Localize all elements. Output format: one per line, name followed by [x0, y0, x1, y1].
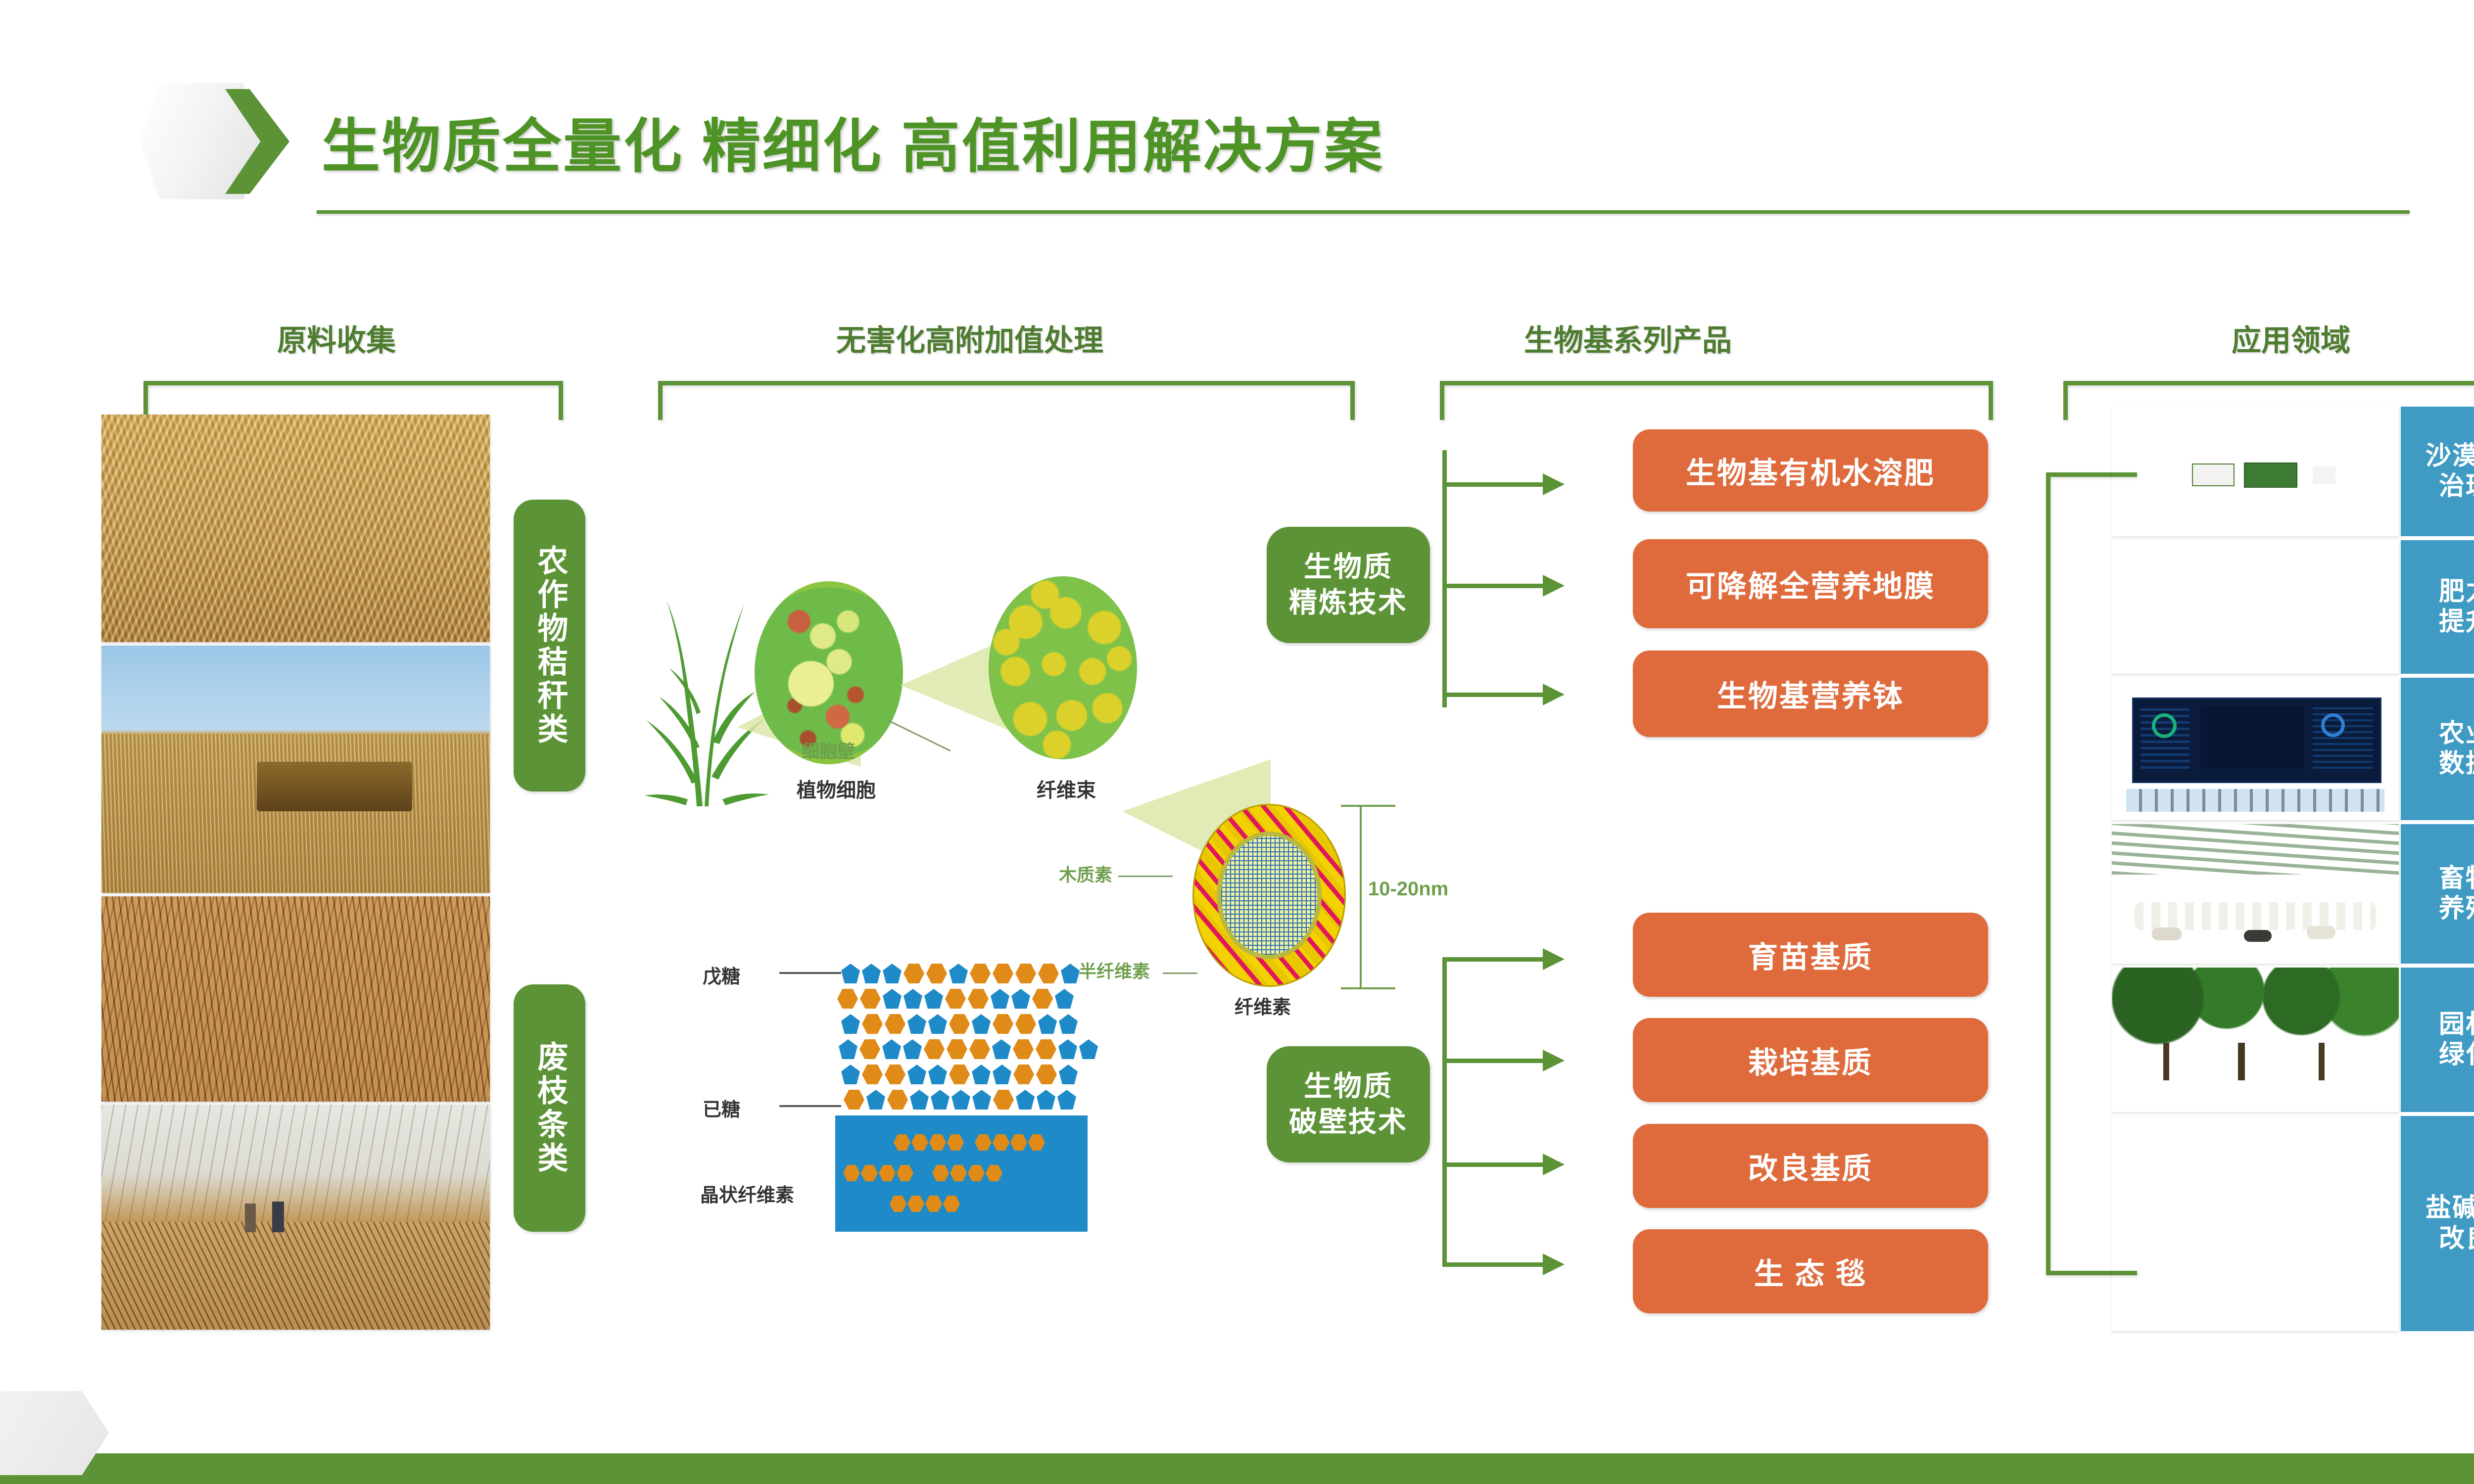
connector-arm-4 [1442, 957, 1546, 962]
dimension-tick-bottom [1341, 987, 1395, 989]
product-box-cultivation-substrate[interactable]: 栽培基质 [1633, 1018, 1988, 1102]
app-label-landscape-greening[interactable]: 园林 绿化 [2401, 968, 2474, 1112]
connector-arm-1 [1442, 482, 1546, 487]
bracket-products [1440, 381, 1993, 420]
label-hexose: 已糖 [703, 1094, 740, 1121]
product-box-degradable-mulch-film[interactable]: 可降解全营养地膜 [1633, 539, 1988, 628]
product-box-bio-nutrient-pot[interactable]: 生物基营养钵 [1633, 650, 1988, 737]
app-label-line1: 盐碱地 [2426, 1193, 2474, 1223]
app-label-livestock-breeding[interactable]: 畜牧 养殖 [2401, 824, 2474, 964]
app-label-line2: 改良 [2439, 1224, 2474, 1254]
connector-arm-2 [1442, 584, 1546, 588]
page-title: 生物质全量化 精细化 高值利用解决方案 [322, 99, 1384, 184]
tech-box-wall-breaking-line2: 破壁技术 [1289, 1105, 1408, 1140]
connector-arm-7 [1442, 1262, 1546, 1267]
app-label-line2: 治理 [2439, 471, 2474, 502]
app-label-desert-control[interactable]: 沙漠化 治理 [2401, 407, 2474, 536]
app-label-line2: 数据 [2439, 749, 2474, 779]
vertical-tab-waste-branch: 废枝条类 [514, 984, 585, 1232]
app-label-line1: 农业 [2439, 719, 2474, 749]
connector-spine-wall-breaking [1442, 957, 1447, 1266]
infographic-canvas: 生物质全量化 精细化 高值利用解决方案 原料收集 无害化高附加值处理 生物基系列… [0, 0, 2474, 1484]
app-photo-sheep-grazing [2112, 824, 2399, 964]
tech-box-refining-line2: 精炼技术 [1289, 585, 1408, 620]
section-header-processing: 无害化高附加值处理 [643, 317, 1296, 360]
caption-fiber-bundle: 纤维束 [1037, 774, 1096, 803]
arrowhead-3 [1543, 684, 1565, 705]
vertical-tab-crop-straw: 农作物秸秆类 [514, 500, 585, 791]
app-photo-park-trees [2112, 968, 2399, 1112]
tech-box-wall-breaking-line1: 生物质 [1304, 1069, 1393, 1104]
label-pentose: 戊糖 [703, 961, 740, 988]
photo-dry-branches [101, 896, 490, 1102]
footer-bar [0, 1453, 2474, 1484]
sugar-chain-row [841, 1065, 1078, 1084]
app-photo-data-control-room [2112, 678, 2399, 820]
sugar-chain-row [844, 1090, 1076, 1110]
product-box-improvement-substrate[interactable]: 改良基质 [1633, 1124, 1988, 1208]
hemicellulose-leader-line [1163, 973, 1197, 974]
label-crystalline-cellulose: 晶状纤维素 [700, 1180, 794, 1207]
fiber-bundle-illustration [989, 576, 1137, 759]
label-lignin: 木质素 [1059, 861, 1112, 886]
app-photo-saline-soil [2112, 1116, 2399, 1331]
tech-box-wall-breaking[interactable]: 生物质 破壁技术 [1267, 1046, 1430, 1162]
product-box-eco-blanket[interactable]: 生 态 毯 [1633, 1229, 1988, 1313]
app-label-line1: 沙漠化 [2426, 441, 2474, 471]
hexose-leader-line [779, 1105, 841, 1107]
caption-plant-cell: 植物细胞 [797, 774, 876, 803]
dimension-line-vertical [1360, 805, 1362, 989]
app-photo-cabbage-field [2112, 540, 2399, 674]
photo-orchard-pruning [101, 1105, 490, 1330]
arrowhead-1 [1543, 473, 1565, 495]
sugar-chain-row [841, 1014, 1078, 1034]
app-label-agricultural-data[interactable]: 农业 数据 [2401, 678, 2474, 820]
app-label-line1: 畜牧 [2439, 864, 2474, 894]
cellulose-core [1221, 836, 1317, 955]
lignin-leader-line [1118, 876, 1173, 877]
bracket-processing [658, 381, 1355, 420]
title-underline-divider [317, 210, 2410, 214]
section-header-raw: 原料收集 [188, 317, 485, 360]
sugar-chain-row [837, 989, 1074, 1009]
app-label-line1: 肥力 [2439, 577, 2474, 607]
app-photo-desert-control [2112, 407, 2399, 536]
tech-box-refining-line1: 生物质 [1304, 550, 1393, 585]
connector-arm-6 [1442, 1162, 1546, 1167]
label-hemicellulose: 半纤维素 [1079, 957, 1150, 983]
tech-box-refining[interactable]: 生物质 精炼技术 [1267, 527, 1430, 643]
photo-corn-stalk-field [101, 415, 490, 642]
caption-cellulose: 纤维素 [1235, 992, 1291, 1019]
arrowhead-7 [1543, 1253, 1565, 1275]
product-box-seedling-substrate[interactable]: 育苗基质 [1633, 913, 1988, 997]
connector-arm-5 [1442, 1059, 1546, 1063]
connector-arm-3 [1442, 693, 1546, 697]
arrowhead-5 [1543, 1050, 1565, 1071]
product-box-water-soluble-fertilizer[interactable]: 生物基有机水溶肥 [1633, 429, 1988, 511]
arrowhead-6 [1543, 1154, 1565, 1175]
app-label-line2: 绿化 [2439, 1040, 2474, 1070]
app-label-line2: 提升 [2439, 607, 2474, 637]
crystalline-cellulose-panel [835, 1115, 1088, 1232]
label-cell-wall: 细胞壁 [802, 737, 855, 763]
arrowhead-2 [1543, 575, 1565, 597]
app-label-line1: 园林 [2439, 1010, 2474, 1040]
sugar-chain-row [839, 1039, 1098, 1059]
app-label-fertility-improvement[interactable]: 肥力 提升 [2401, 540, 2474, 674]
arrowhead-4 [1543, 948, 1565, 970]
label-nanofiber-dimension: 10-20nm [1368, 878, 1448, 900]
photo-straw-bale-field [101, 646, 490, 893]
dimension-tick-top [1341, 805, 1395, 807]
section-header-products: 生物基系列产品 [1425, 317, 1831, 360]
sugar-chain-row [841, 964, 1080, 983]
pentose-leader-line [779, 972, 841, 974]
connector-spine-refining [1442, 450, 1447, 707]
app-label-line2: 养殖 [2439, 894, 2474, 924]
app-label-saline-soil-improvement[interactable]: 盐碱地 改良 [2401, 1116, 2474, 1331]
section-header-applications: 应用领域 [2088, 317, 2474, 360]
